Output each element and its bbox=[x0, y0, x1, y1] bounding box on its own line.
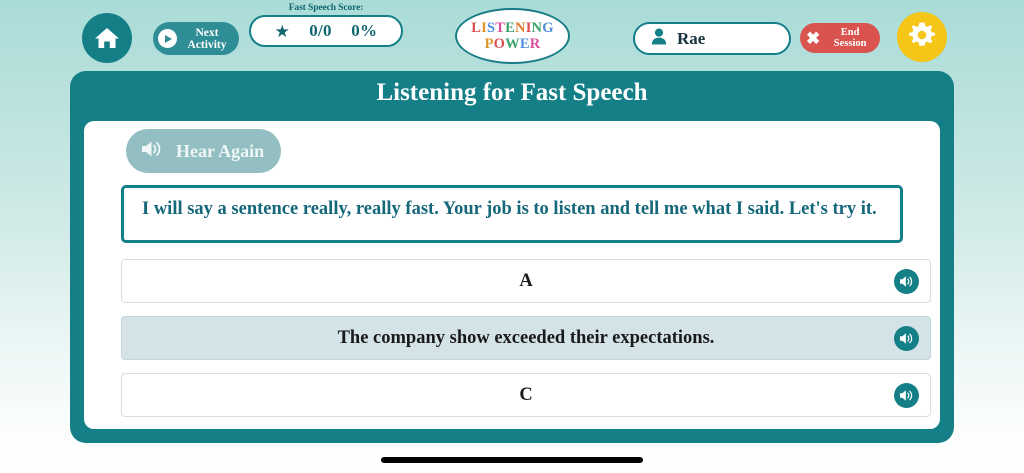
speaker-icon bbox=[140, 139, 164, 164]
home-button[interactable] bbox=[82, 13, 132, 63]
prompt-box: I will say a sentence really, really fas… bbox=[121, 185, 903, 243]
score-percent: 0% bbox=[351, 21, 377, 41]
end-session-button[interactable]: ✖ End Session bbox=[800, 23, 880, 53]
page-title: Listening for Fast Speech bbox=[70, 71, 954, 115]
logo-letter: N bbox=[532, 20, 543, 36]
answer-option-b-label: The company show exceeded their expectat… bbox=[122, 328, 894, 349]
next-activity-line1: Next bbox=[196, 27, 219, 39]
logo-line-power: POWER bbox=[485, 36, 541, 52]
next-activity-line2: Activity bbox=[188, 39, 227, 51]
x-icon: ✖ bbox=[806, 30, 820, 47]
star-icon: ★ bbox=[275, 23, 290, 40]
hear-again-button[interactable]: Hear Again bbox=[126, 129, 281, 173]
gear-icon bbox=[908, 21, 936, 54]
top-toolbar: Next Activity Fast Speech Score: ★ 0/0 0… bbox=[0, 0, 1024, 74]
answer-option-a[interactable]: A bbox=[121, 259, 931, 303]
app-logo: LISTENING POWER bbox=[455, 8, 570, 64]
user-selector[interactable]: Rae bbox=[633, 22, 791, 55]
person-icon bbox=[651, 28, 667, 50]
speaker-icon[interactable] bbox=[894, 269, 919, 294]
app-screen: Next Activity Fast Speech Score: ★ 0/0 0… bbox=[0, 0, 1024, 473]
prompt-text: I will say a sentence really, really fas… bbox=[142, 197, 886, 221]
logo-line-listening: LISTENING bbox=[471, 20, 553, 36]
logo-letter: E bbox=[505, 20, 515, 36]
logo-letter: T bbox=[495, 20, 505, 36]
answer-option-c-label: C bbox=[122, 385, 894, 406]
logo-letter: R bbox=[530, 36, 541, 52]
speaker-icon[interactable] bbox=[894, 383, 919, 408]
answer-option-b[interactable]: The company show exceeded their expectat… bbox=[121, 316, 931, 360]
logo-letter: L bbox=[471, 20, 481, 36]
settings-button[interactable] bbox=[897, 12, 947, 62]
logo-letter: W bbox=[505, 36, 520, 52]
speaker-icon[interactable] bbox=[894, 326, 919, 351]
play-icon bbox=[158, 29, 177, 48]
activity-body: Hear Again I will say a sentence really,… bbox=[84, 121, 940, 429]
logo-letter: G bbox=[542, 20, 553, 36]
hear-again-label: Hear Again bbox=[176, 141, 264, 162]
answer-option-a-label: A bbox=[122, 271, 894, 292]
answer-option-c[interactable]: C bbox=[121, 373, 931, 417]
next-activity-button[interactable]: Next Activity bbox=[153, 22, 239, 55]
score-label: Fast Speech Score: bbox=[249, 2, 403, 14]
logo-letter: N bbox=[515, 20, 526, 36]
end-session-line1: End bbox=[841, 27, 860, 38]
score-fraction: 0/0 bbox=[309, 21, 332, 41]
logo-letter: P bbox=[485, 36, 494, 52]
activity-card: Listening for Fast Speech Hear Again I w… bbox=[70, 71, 954, 443]
logo-letter: E bbox=[520, 36, 530, 52]
logo-letter: O bbox=[494, 36, 505, 52]
user-name: Rae bbox=[677, 29, 705, 49]
score-pill: ★ 0/0 0% bbox=[249, 15, 403, 47]
end-session-line2: Session bbox=[834, 38, 867, 49]
score-display: Fast Speech Score: ★ 0/0 0% bbox=[249, 2, 403, 47]
end-session-label: End Session bbox=[820, 27, 880, 49]
home-indicator bbox=[381, 457, 643, 463]
next-activity-label: Next Activity bbox=[177, 27, 239, 51]
home-icon bbox=[94, 26, 120, 50]
